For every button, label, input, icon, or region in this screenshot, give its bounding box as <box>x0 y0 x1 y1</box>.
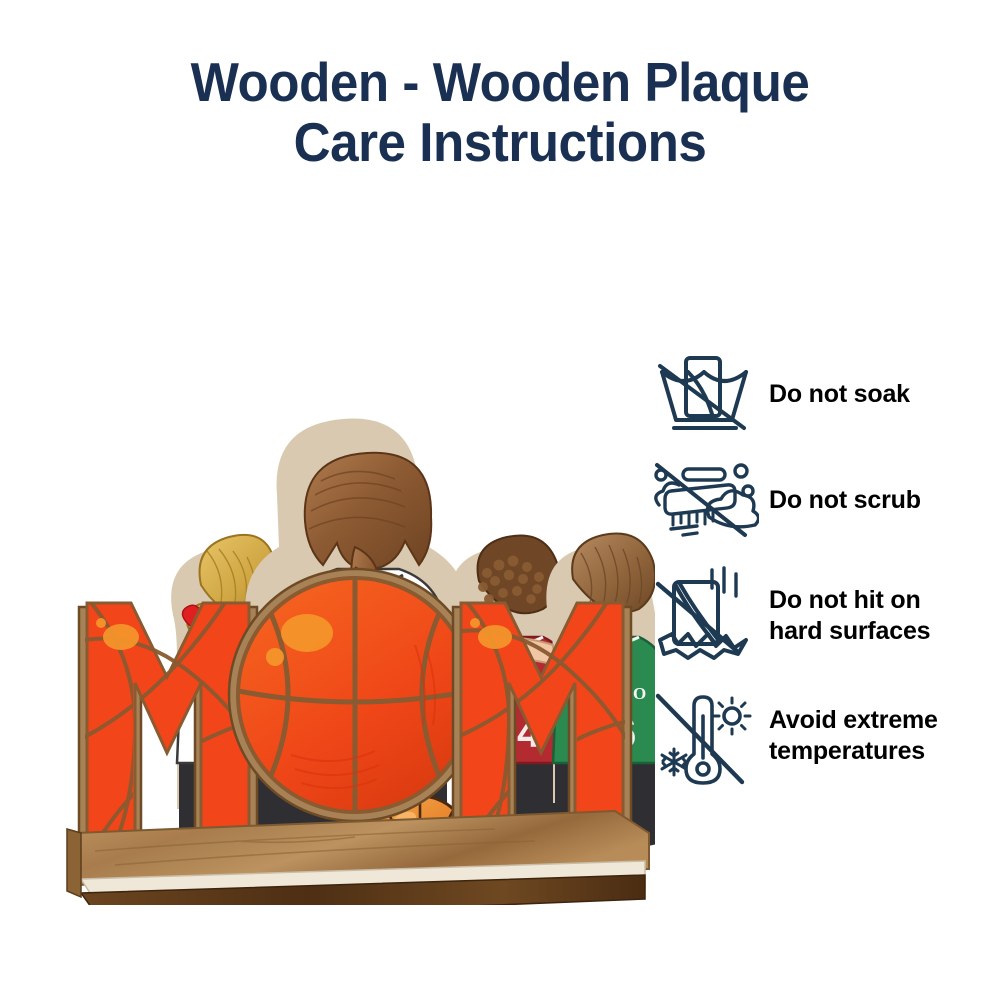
care-label-avoid-extreme-temperatures: Avoid extreme temperatures <box>763 705 938 767</box>
care-item-do-not-soak: Do not soak <box>645 348 990 440</box>
no-soak-icon <box>645 350 763 438</box>
product-image-wooden-plaque: AVA 06 <box>55 285 655 905</box>
no-scrub-icon <box>645 461 763 539</box>
no-extreme-temperature-icon <box>645 686 763 786</box>
care-item-avoid-extreme-temperatures: Avoid extreme temperatures <box>645 686 990 786</box>
care-label-do-not-hit: Do not hit on hard surfaces <box>763 585 930 647</box>
care-label-do-not-soak: Do not soak <box>763 379 910 410</box>
care-instructions-list: Do not soak <box>645 348 990 802</box>
care-item-do-not-hit: Do not hit on hard surfaces <box>645 564 990 668</box>
page-title-line-2: Care Instructions <box>35 112 965 172</box>
letter-o-basketball <box>229 569 481 821</box>
page-title: Wooden - Wooden Plaque Care Instructions <box>35 52 965 172</box>
care-item-do-not-scrub: Do not scrub <box>645 454 990 546</box>
plaque-wooden-base <box>67 811 649 905</box>
care-label-do-not-scrub: Do not scrub <box>763 485 921 516</box>
no-hard-impact-icon <box>645 564 763 668</box>
page-title-line-1: Wooden - Wooden Plaque <box>35 52 965 112</box>
